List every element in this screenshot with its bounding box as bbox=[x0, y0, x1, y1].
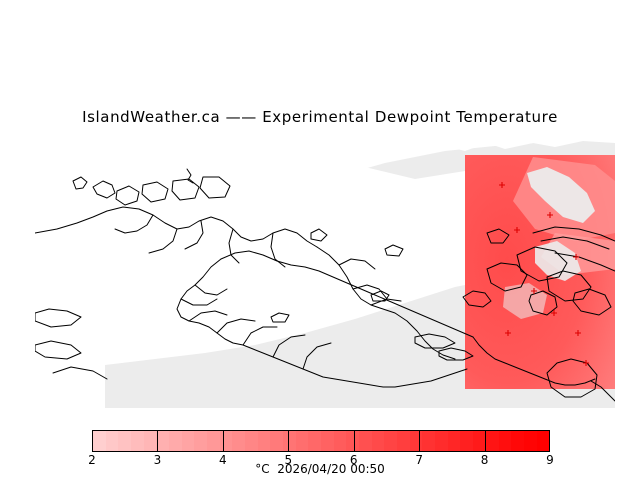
colorbar-caption: °C 2026/04/20 00:50 bbox=[0, 462, 640, 476]
colorbar-swatch bbox=[346, 431, 359, 451]
colorbar-swatch bbox=[524, 431, 537, 451]
colorbar-swatch bbox=[156, 431, 169, 451]
colorbar-swatch bbox=[270, 431, 283, 451]
colorbar-swatch bbox=[258, 431, 271, 451]
colorbar-swatch bbox=[473, 431, 486, 451]
colorbar-swatch bbox=[384, 431, 397, 451]
colorbar-swatch bbox=[486, 431, 499, 451]
colorbar-swatch bbox=[220, 431, 233, 451]
page-title: IslandWeather.ca —— Experimental Dewpoin… bbox=[0, 108, 640, 126]
colorbar-swatch bbox=[372, 431, 385, 451]
colorbar-swatch bbox=[334, 431, 347, 451]
colorbar-swatch bbox=[422, 431, 435, 451]
colorbar-swatch bbox=[232, 431, 245, 451]
colorbar-swatch bbox=[321, 431, 334, 451]
colorbar-swatch bbox=[182, 431, 195, 451]
colorbar-swatch bbox=[397, 431, 410, 451]
colorbar-swatch bbox=[435, 431, 448, 451]
colorbar-swatch bbox=[131, 431, 144, 451]
weather-map-page: IslandWeather.ca —— Experimental Dewpoin… bbox=[0, 0, 640, 480]
colorbar-swatch bbox=[194, 431, 207, 451]
map-panel[interactable] bbox=[35, 137, 615, 408]
colorbar-swatch bbox=[93, 431, 106, 451]
colorbar-swatch bbox=[448, 431, 461, 451]
colorbar[interactable]: 23456789 bbox=[92, 430, 550, 452]
colorbar-swatch bbox=[537, 431, 550, 451]
colorbar-swatch bbox=[118, 431, 131, 451]
colorbar-swatch bbox=[460, 431, 473, 451]
colorbar-swatch bbox=[283, 431, 296, 451]
colorbar-swatch bbox=[499, 431, 512, 451]
colorbar-swatch bbox=[511, 431, 524, 451]
colorbar-swatch bbox=[359, 431, 372, 451]
colorbar-swatch bbox=[207, 431, 220, 451]
colorbar-swatch bbox=[106, 431, 119, 451]
colorbar-swatch bbox=[144, 431, 157, 451]
colorbar-swatch bbox=[169, 431, 182, 451]
colorbar-swatch bbox=[308, 431, 321, 451]
map-canvas[interactable] bbox=[35, 137, 615, 408]
colorbar-swatch bbox=[245, 431, 258, 451]
colorbar-gradient bbox=[92, 430, 550, 452]
colorbar-swatch bbox=[410, 431, 423, 451]
colorbar-swatch bbox=[296, 431, 309, 451]
